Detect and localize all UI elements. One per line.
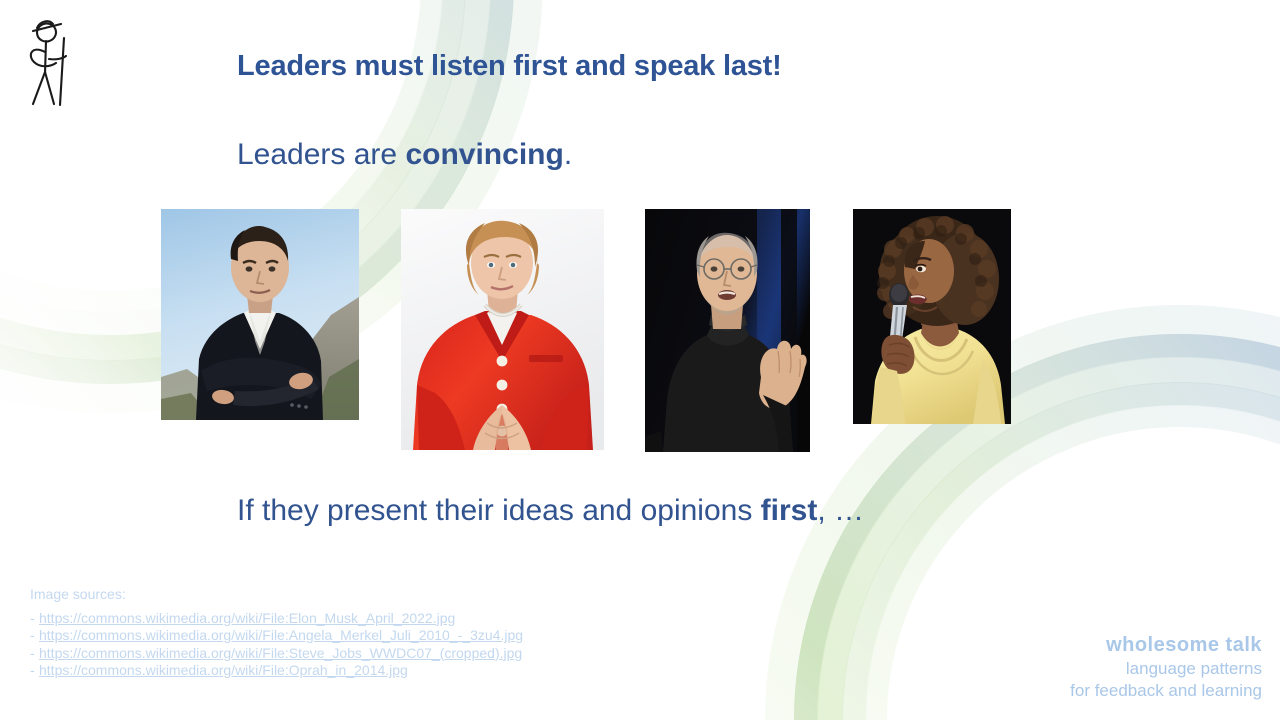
- subtitle-lead: Leaders are: [237, 138, 405, 171]
- source-row-angela-merkel: -https://commons.wikimedia.org/wiki/File…: [30, 627, 523, 645]
- source-bullet-dash: -: [30, 662, 39, 680]
- source-row-steve-jobs: -https://commons.wikimedia.org/wiki/File…: [30, 645, 523, 663]
- slide-title: Leaders must listen first and speak last…: [237, 50, 782, 83]
- source-link-elon-musk[interactable]: https://commons.wikimedia.org/wiki/File:…: [39, 610, 455, 626]
- slide-canvas: Leaders must listen first and speak last…: [0, 0, 1280, 720]
- closing-lead: If they present their ideas and opinions: [237, 494, 761, 527]
- photo-angela-merkel: [401, 209, 604, 450]
- source-link-angela-merkel[interactable]: https://commons.wikimedia.org/wiki/File:…: [39, 627, 523, 643]
- brand-tagline-line-2: for feedback and learning: [1070, 680, 1262, 702]
- brand-tagline-line-1: language patterns: [1070, 658, 1262, 680]
- slide-closing-line: If they present their ideas and opinions…: [237, 494, 864, 528]
- closing-emphasis: first: [761, 494, 818, 527]
- source-bullet-dash: -: [30, 610, 39, 628]
- image-sources-heading: Image sources:: [30, 586, 523, 604]
- source-link-steve-jobs[interactable]: https://commons.wikimedia.org/wiki/File:…: [39, 645, 522, 661]
- brand-block: wholesome talk language patterns for fee…: [1070, 632, 1262, 702]
- stick-figure-logo: [18, 12, 94, 108]
- image-sources-block: Image sources: -https://commons.wikimedi…: [30, 586, 523, 680]
- photo-steve-jobs: [645, 209, 810, 452]
- closing-tail: , …: [817, 494, 864, 527]
- source-bullet-dash: -: [30, 645, 39, 663]
- photo-oprah-winfrey: [853, 209, 1011, 424]
- brand-name: wholesome talk: [1070, 632, 1262, 658]
- subtitle-tail: .: [564, 138, 572, 171]
- source-row-oprah-winfrey: -https://commons.wikimedia.org/wiki/File…: [30, 662, 523, 680]
- photo-elon-musk: [161, 209, 359, 420]
- source-link-oprah-winfrey[interactable]: https://commons.wikimedia.org/wiki/File:…: [39, 662, 408, 678]
- slide-subtitle: Leaders are convincing.: [237, 138, 572, 172]
- source-row-elon-musk: -https://commons.wikimedia.org/wiki/File…: [30, 610, 523, 628]
- subtitle-emphasis: convincing: [405, 138, 563, 171]
- source-bullet-dash: -: [30, 627, 39, 645]
